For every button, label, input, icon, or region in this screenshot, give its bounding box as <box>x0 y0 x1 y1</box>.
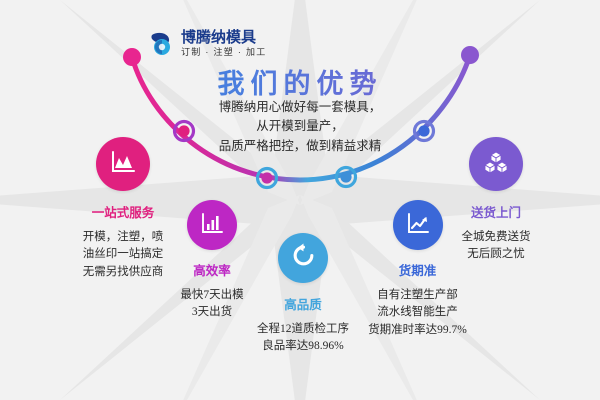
page-title: 我们的优势 <box>0 62 600 101</box>
feature-line: 全城免费送货 <box>436 229 556 246</box>
feature-lines-door-to-door-delivery: 全城免费送货 无后顾之忧 <box>436 229 556 264</box>
feature-line: 无后顾之忧 <box>436 246 556 263</box>
feature-line: 良品率达98.96% <box>243 338 363 355</box>
feature-lines-high-quality: 全程12道质检工序 良品率达98.96% <box>243 321 363 356</box>
feature-icon-bubble-high-efficiency <box>187 200 237 250</box>
feature-line: 流水线智能生产 <box>355 304 480 321</box>
feature-high-quality[interactable]: 高品质 全程12道质检工序 良品率达98.96% <box>243 233 363 356</box>
feature-lines-on-time-delivery: 自有注塑生产部 流水线智能生产 货期准时率达99.7% <box>355 287 480 339</box>
infographic-canvas: 博腾纳模具 订制 · 注塑 · 加工 <box>0 0 600 400</box>
feature-icon-bubble-on-time-delivery <box>393 200 443 250</box>
intro-paragraph: 博腾纳用心做好每一套模具， 从开模到量产， 品质严格把控，做到精益求精 <box>0 98 600 156</box>
cycle-refresh-icon <box>291 243 316 273</box>
bar-chart-icon <box>200 211 224 240</box>
feature-title-door-to-door-delivery: 送货上门 <box>436 202 556 221</box>
feature-icon-bubble-high-quality <box>278 233 328 283</box>
feature-line: 全程12道质检工序 <box>243 321 363 338</box>
intro-line: 从开模到量产， <box>0 117 600 136</box>
line-chart-up-icon <box>406 211 430 240</box>
feature-title-high-quality: 高品质 <box>243 294 363 313</box>
intro-line: 品质严格把控，做到精益求精 <box>0 137 600 156</box>
intro-line: 博腾纳用心做好每一套模具， <box>0 98 600 117</box>
feature-line: 货期准时率达99.7% <box>355 322 480 339</box>
feature-line: 自有注塑生产部 <box>355 287 480 304</box>
